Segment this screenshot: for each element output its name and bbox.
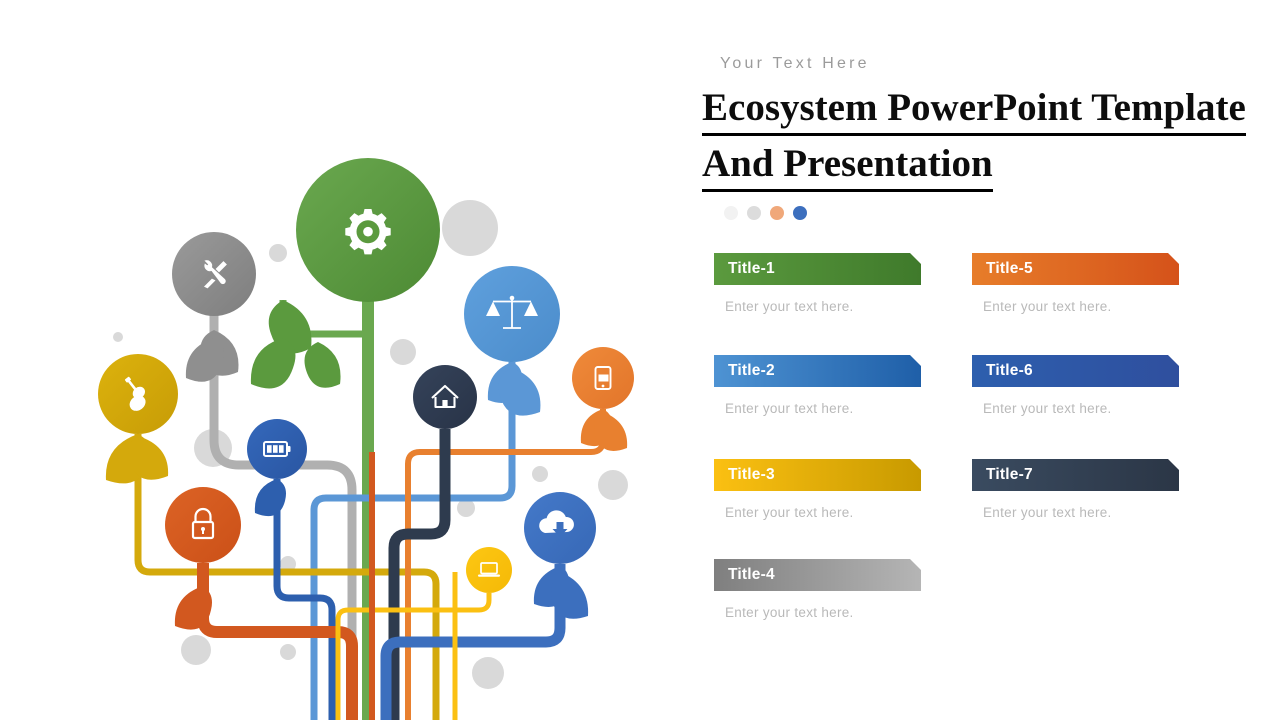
leaf-battery-1 [255,479,286,516]
card-body-title-3: Enter your text here. [714,505,921,520]
page-title: Ecosystem PowerPoint Template And Presen… [702,84,1280,192]
card-header-title-1: Title-1 [714,253,921,285]
pager-dots[interactable] [724,206,807,220]
pager-dot-2[interactable] [747,206,761,220]
node-lock[interactable] [165,487,241,563]
stem-blue-cloud [386,564,560,720]
card-title-1[interactable]: Title-1Enter your text here. [714,253,921,314]
node-battery[interactable] [247,419,307,479]
card-header-title-6: Title-6 [972,355,1179,387]
card-header-title-3: Title-3 [714,459,921,491]
card-body-title-5: Enter your text here. [972,299,1179,314]
node-laptop-circle [466,547,512,593]
ecosystem-tree-illustration [0,0,680,720]
card-title-5[interactable]: Title-5Enter your text here. [972,253,1179,314]
page-title-line-2: And Presentation [702,140,993,192]
leaf-green-2 [251,338,296,388]
pager-dot-1[interactable] [724,206,738,220]
card-header-title-4: Title-4 [714,559,921,591]
card-header-title-5: Title-5 [972,253,1179,285]
card-body-title-2: Enter your text here. [714,401,921,416]
card-body-title-7: Enter your text here. [972,505,1179,520]
card-body-title-4: Enter your text here. [714,605,921,620]
leaf-lblue-2 [499,368,541,416]
card-header-title-2: Title-2 [714,355,921,387]
page-title-line-1: Ecosystem PowerPoint Template [702,84,1246,136]
node-lock-circle [165,487,241,563]
card-body-title-1: Enter your text here. [714,299,921,314]
node-tools[interactable] [172,232,256,316]
leaf-green-3 [305,342,341,388]
stem-blue-battery [277,479,332,720]
gear-icon [345,209,390,254]
card-title-6[interactable]: Title-6Enter your text here. [972,355,1179,416]
node-gear[interactable] [296,158,440,302]
stem-gold-laptop [338,593,489,720]
node-home[interactable] [413,365,477,429]
card-header-title-7: Title-7 [972,459,1179,491]
node-guitar[interactable] [98,354,178,434]
node-home-circle [413,365,477,429]
node-laptop[interactable] [466,547,512,593]
node-scales[interactable] [464,266,560,362]
node-mobile[interactable] [572,347,634,409]
card-title-3[interactable]: Title-3Enter your text here. [714,459,921,520]
slide-canvas: Your Text Here Ecosystem PowerPoint Temp… [0,0,1280,720]
content-panel: Your Text Here Ecosystem PowerPoint Temp… [700,0,1280,720]
pager-dot-3[interactable] [770,206,784,220]
card-title-7[interactable]: Title-7Enter your text here. [972,459,1179,520]
card-title-4[interactable]: Title-4Enter your text here. [714,559,921,620]
node-cloud-download[interactable] [524,492,596,564]
eyebrow-text: Your Text Here [720,55,870,73]
card-title-2[interactable]: Title-2Enter your text here. [714,355,921,416]
pager-dot-4[interactable] [793,206,807,220]
card-body-title-6: Enter your text here. [972,401,1179,416]
